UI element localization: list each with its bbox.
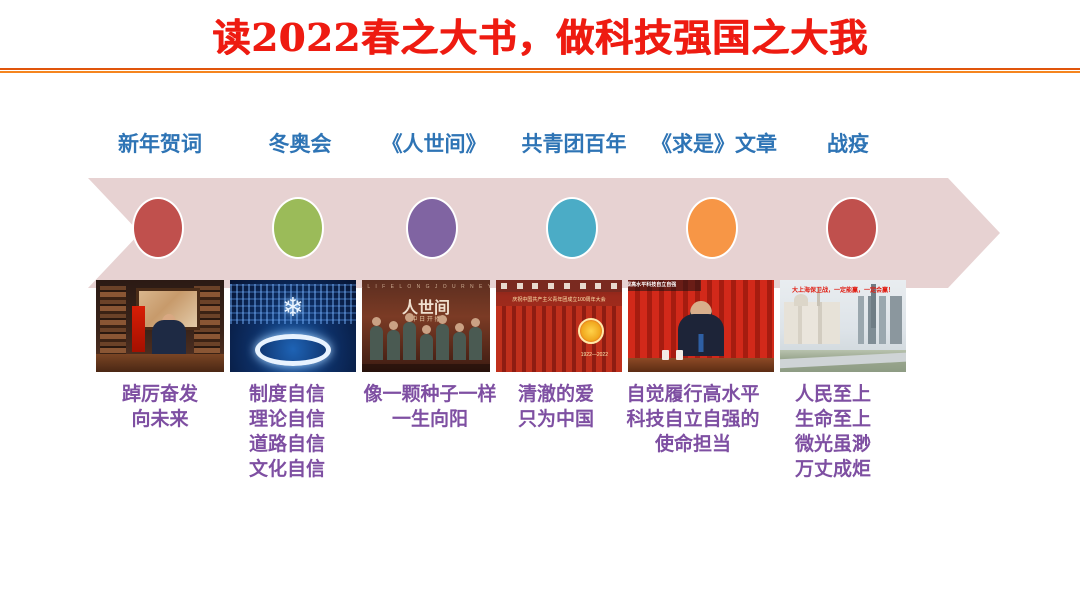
- red-curtain-decor: [496, 306, 622, 372]
- ceremony-banner-text: 庆祝中国共产主义青年团成立100周年大会: [512, 296, 605, 303]
- header-divider-line-bottom: [0, 71, 1080, 73]
- pudong-skyline-decor: [856, 296, 902, 344]
- riverside-road-decor: [780, 350, 906, 372]
- milestone-dot-2[interactable]: [272, 197, 324, 259]
- olympic-cauldron-ring-decor: [255, 334, 331, 366]
- poster-credits-bar: [362, 364, 490, 372]
- photo-caption-bar: 加快建设科技强国 实现高水平科技自立自强: [628, 280, 701, 291]
- shanghai-slogan-text: 大上海保卫战，一定能赢，一定会赢！: [792, 285, 894, 294]
- ceiling-lights-decor: [496, 280, 622, 292]
- poster-top-line: A L I F E L O N G J O U R N E Y: [362, 284, 490, 290]
- milestone-label-6: 战疫: [827, 128, 869, 158]
- youth-league-centenary-photo[interactable]: 庆祝中国共产主义青年团成立100周年大会 1922—2022: [496, 280, 622, 372]
- speaker-body-decor: [152, 320, 186, 354]
- milestone-labels-row: 新年贺词 冬奥会 《人世间》 共青团百年 《求是》文章 战疫: [88, 128, 948, 172]
- snowflake-icon: ❄: [282, 294, 304, 320]
- milestone-caption-6: 人民至上 生命至上 微光虽渺 万丈成炬: [773, 382, 893, 482]
- teacup-decor-right: [676, 350, 683, 360]
- milestone-label-5: 《求是》文章: [651, 128, 777, 158]
- milestone-caption-4: 清澈的爱 只为中国: [496, 382, 616, 432]
- milestone-caption-1: 踔厉奋发 向未来: [90, 382, 230, 432]
- milestone-caption-3: 像一颗种子一样 一生向阳: [345, 382, 515, 432]
- winter-olympics-ceremony-photo[interactable]: ❄: [230, 280, 356, 372]
- bund-buildings-decor: [784, 302, 840, 344]
- milestone-dot-6[interactable]: [826, 197, 878, 259]
- qiushi-speech-photo[interactable]: 加快建设科技强国 实现高水平科技自立自强: [628, 280, 774, 372]
- milestone-label-3: 《人世间》: [382, 128, 487, 158]
- teacup-decor-left: [662, 350, 669, 360]
- dome-building-decor: [794, 294, 808, 306]
- bookshelf-left-decor: [100, 286, 126, 364]
- new-year-address-photo[interactable]: [96, 280, 224, 372]
- milestone-label-1: 新年贺词: [118, 128, 202, 158]
- milestone-caption-2: 制度自信 理论自信 道路自信 文化自信: [227, 382, 347, 482]
- youth-league-emblem-icon: [578, 318, 604, 344]
- milestone-dot-3[interactable]: [406, 197, 458, 259]
- milestone-dot-1[interactable]: [132, 197, 184, 259]
- title-bar: 读2022春之大书，做科技强国之大我: [0, 0, 1080, 68]
- desk-decor: [96, 354, 224, 372]
- milestone-dot-5[interactable]: [686, 197, 738, 259]
- page-title: 读2022春之大书，做科技强国之大我: [212, 7, 868, 62]
- header-divider-line-top: [0, 68, 1080, 70]
- shanghai-skyline-photo[interactable]: 大上海保卫战，一定能赢，一定会赢！: [780, 280, 906, 372]
- milestone-dot-4[interactable]: [546, 197, 598, 259]
- milestone-label-4: 共青团百年: [522, 128, 627, 158]
- poster-cast-group-decor: [370, 316, 482, 360]
- ceremony-years-label: 1922—2022: [581, 352, 608, 358]
- milestone-caption-5: 自觉履行高水平 科技自立自强的 使命担当: [608, 382, 778, 457]
- renshijian-poster[interactable]: A L I F E L O N G J O U R N E Y 人世间 中 日 …: [362, 280, 490, 372]
- national-flag-decor: [132, 306, 145, 352]
- milestone-label-2: 冬奥会: [269, 128, 332, 158]
- thumbnail-row: ❄ A L I F E L O N G J O U R N E Y 人世间 中 …: [96, 280, 908, 372]
- necktie-decor: [699, 334, 704, 352]
- podium-table-decor: [628, 358, 774, 372]
